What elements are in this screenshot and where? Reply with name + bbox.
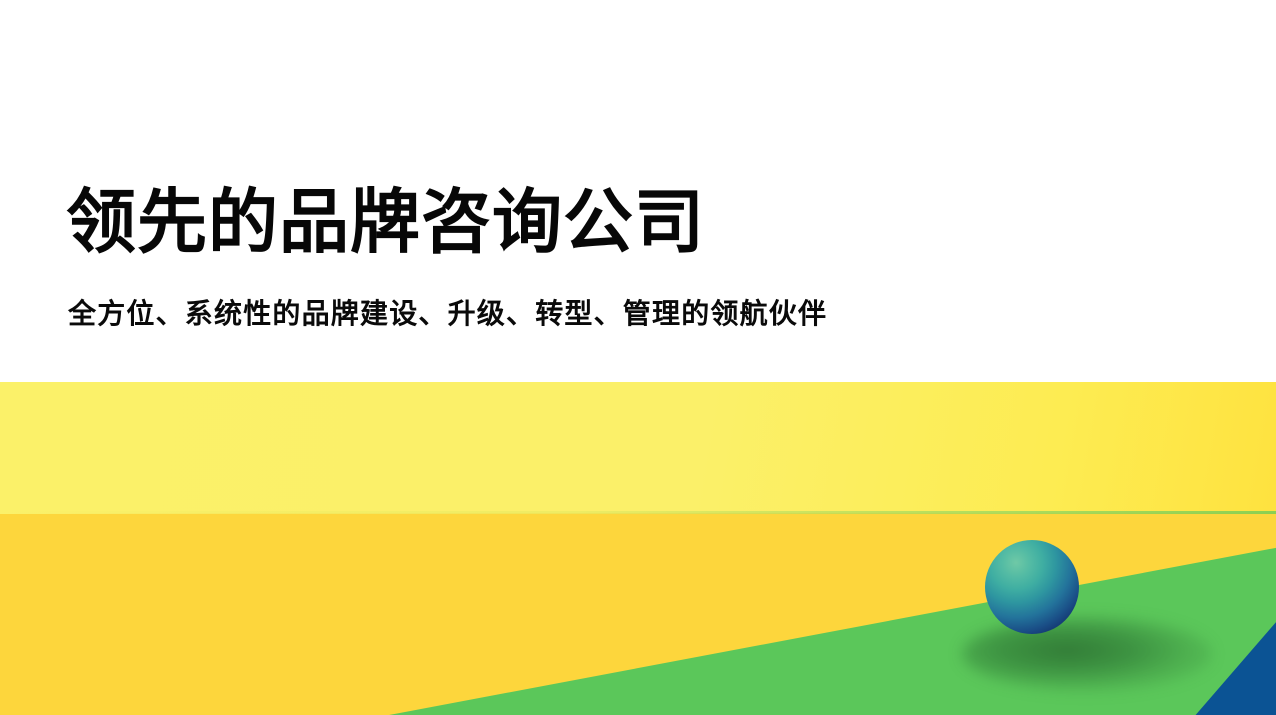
band-divider-line — [0, 511, 1276, 514]
gradient-sphere — [985, 540, 1079, 634]
title-text-block: 领先的品牌咨询公司 全方位、系统性的品牌建设、升级、转型、管理的领航伙伴 — [0, 0, 1276, 382]
presentation-slide: 领先的品牌咨询公司 全方位、系统性的品牌建设、升级、转型、管理的领航伙伴 — [0, 0, 1276, 715]
page-subtitle: 全方位、系统性的品牌建设、升级、转型、管理的领航伙伴 — [68, 300, 827, 328]
sphere-shadow — [962, 617, 1212, 691]
page-title: 领先的品牌咨询公司 — [66, 189, 705, 259]
light-yellow-band — [0, 382, 1276, 527]
